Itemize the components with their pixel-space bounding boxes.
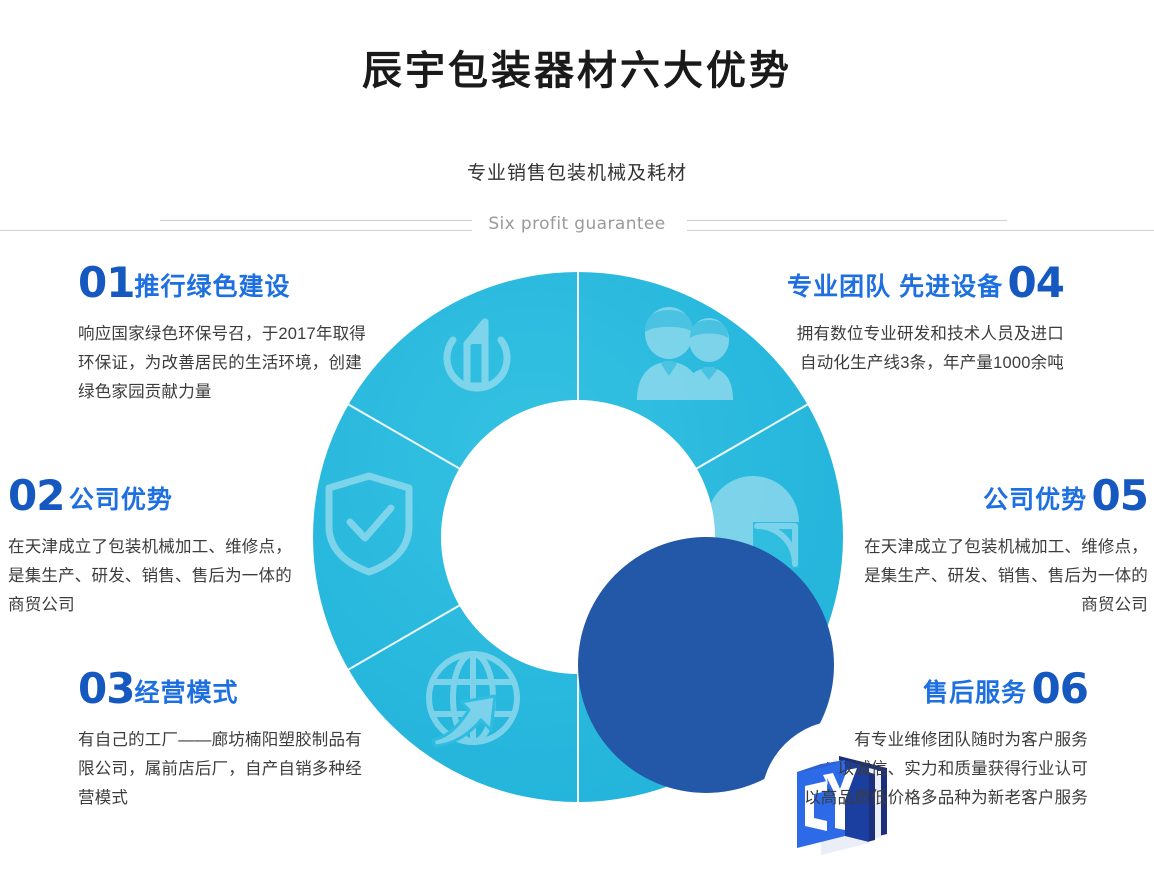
subtitle-divider-row: Six profit guarantee bbox=[0, 106, 1154, 140]
shield-check-icon bbox=[321, 468, 417, 578]
advantage-heading: 02 公司优势 bbox=[8, 475, 300, 517]
two-people-icon bbox=[631, 300, 735, 410]
advantage-caption: 专业团队 先进设备 bbox=[787, 273, 1003, 301]
advantage-heading: 公司优势 05 bbox=[856, 475, 1148, 517]
advantage-block-01: 01推行绿色建设 响应国家绿色环保号召，于2017年取得环保证，为改善居民的生活… bbox=[78, 262, 370, 407]
advantage-body: 有专业维修团队随时为客户服务 以诚信、实力和质量获得行业认可 以高品质低价格多品… bbox=[786, 726, 1088, 813]
subtitle-english: Six profit guarantee bbox=[472, 214, 681, 234]
advantage-body: 响应国家绿色环保号召，于2017年取得环保证，为改善居民的生活环境，创建绿色家园… bbox=[78, 320, 368, 407]
page-header: 辰宇包装器材六大优势 Six profit guarantee 专业销售包装机械… bbox=[0, 0, 1154, 200]
advantage-number: 01 bbox=[78, 258, 134, 307]
globe-arrow-icon bbox=[421, 644, 525, 754]
page-title: 辰宇包装器材六大优势 bbox=[0, 38, 1154, 96]
advantage-number: 05 bbox=[1092, 471, 1148, 520]
advantage-body: 拥有数位专业研发和技术人员及进口自动化生产线3条，年产量1000余吨 bbox=[782, 320, 1064, 378]
rocket-power-icon bbox=[429, 300, 525, 410]
advantage-heading: 03经营模式 bbox=[78, 668, 378, 710]
advantage-block-06: 售后服务 06 有专业维修团队随时为客户服务 以诚信、实力和质量获得行业认可 以… bbox=[786, 668, 1088, 813]
advantage-block-04: 专业团队 先进设备 04 拥有数位专业研发和技术人员及进口自动化生产线3条，年产… bbox=[782, 262, 1064, 378]
advantage-body: 在天津成立了包装机械加工、维修点，是集生产、研发、销售、售后为一体的商贸公司 bbox=[8, 533, 300, 620]
advantage-heading: 专业团队 先进设备 04 bbox=[782, 262, 1064, 304]
advantage-caption: 公司优势 bbox=[983, 486, 1087, 514]
advantage-block-03: 03经营模式 有自己的工厂——廊坊楠阳塑胶制品有限公司，属前店后厂，自产自销多种… bbox=[78, 668, 378, 813]
advantage-block-05: 公司优势 05 在天津成立了包装机械加工、维修点，是集生产、研发、销售、售后为一… bbox=[856, 475, 1148, 620]
advantages-wheel bbox=[313, 272, 843, 802]
advantage-heading: 售后服务 06 bbox=[786, 668, 1088, 710]
advantage-number: 06 bbox=[1032, 664, 1088, 713]
advantage-number: 04 bbox=[1008, 258, 1064, 307]
advantage-caption: 公司优势 bbox=[69, 486, 173, 514]
advantage-heading: 01推行绿色建设 bbox=[78, 262, 370, 304]
subtitle-chinese: 专业销售包装机械及耗材 bbox=[0, 158, 1154, 185]
advantage-number: 03 bbox=[78, 664, 134, 713]
hub-outer-ring bbox=[441, 400, 715, 674]
subtitle-english-wrap: Six profit guarantee bbox=[0, 214, 1154, 234]
advantage-caption: 经营模式 bbox=[134, 679, 238, 707]
advantage-number: 02 bbox=[8, 471, 64, 520]
advantage-body: 有自己的工厂——廊坊楠阳塑胶制品有限公司，属前店后厂，自产自销多种经营模式 bbox=[78, 726, 378, 813]
advantage-block-02: 02 公司优势 在天津成立了包装机械加工、维修点，是集生产、研发、销售、售后为一… bbox=[8, 475, 300, 620]
advantage-caption: 售后服务 bbox=[923, 679, 1027, 707]
advantage-body: 在天津成立了包装机械加工、维修点，是集生产、研发、销售、售后为一体的商贸公司 bbox=[856, 533, 1148, 620]
advantage-caption: 推行绿色建设 bbox=[134, 273, 290, 301]
